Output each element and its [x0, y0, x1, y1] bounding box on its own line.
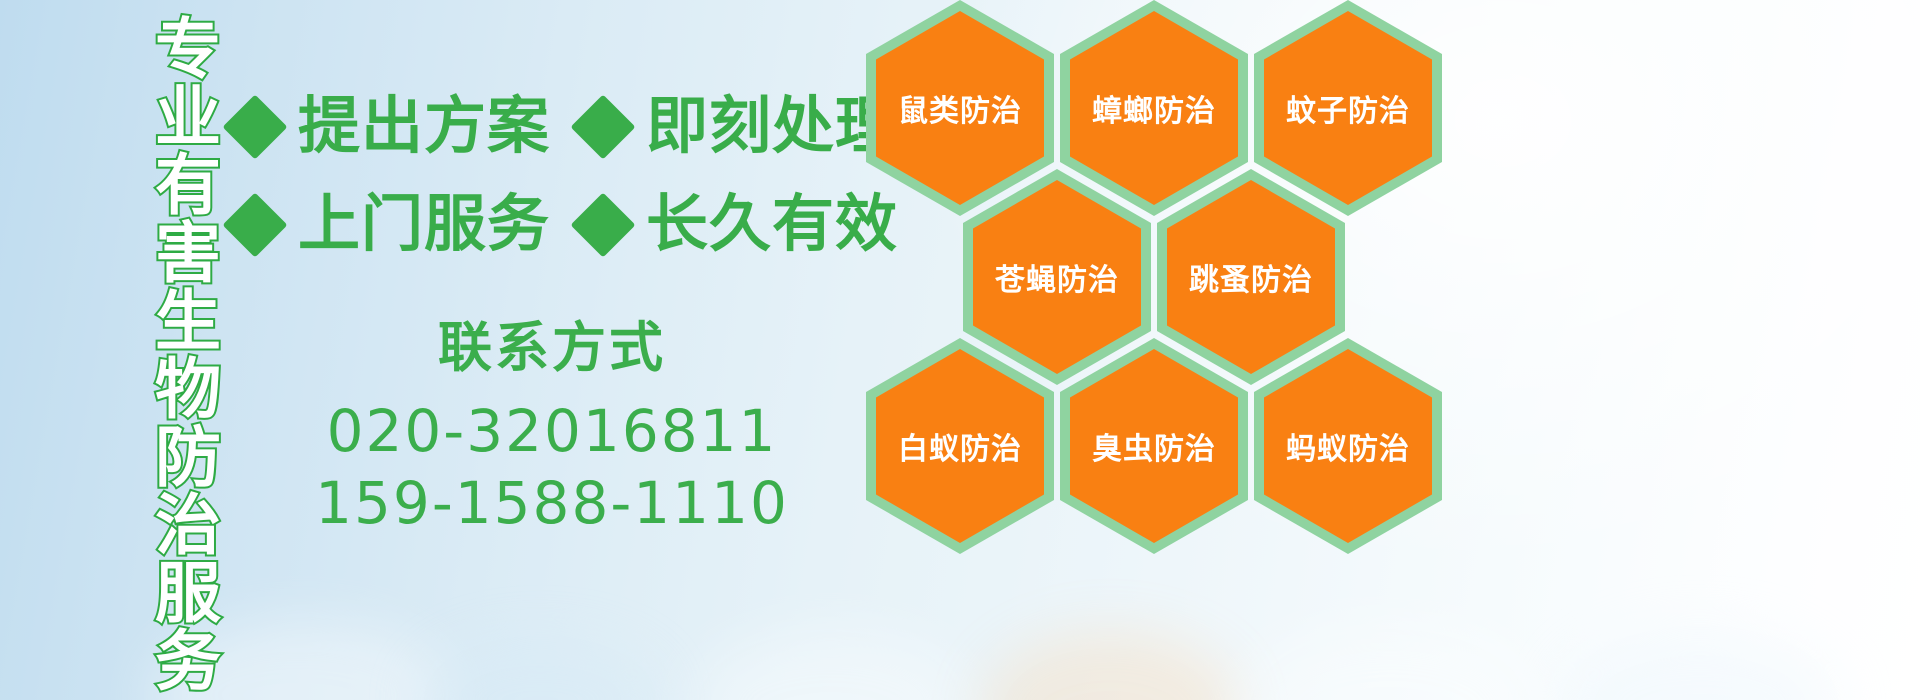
slogan-item-label: 即刻处理	[646, 96, 898, 158]
contact-title: 联系方式	[232, 316, 872, 381]
service-label: 蚊子防治	[1286, 86, 1410, 130]
slogan-line: 提出方案 即刻处理	[232, 78, 872, 176]
service-label: 白蚁防治	[898, 424, 1022, 468]
service-label: 跳蚤防治	[1189, 255, 1313, 299]
slogan-line: 上门服务 长久有效	[232, 176, 872, 274]
hexagon-inner: 蚊子防治	[1264, 11, 1432, 205]
service-hexagon[interactable]: 蟑螂防治	[1060, 0, 1248, 216]
phone-number-landline[interactable]: 020-32016811	[232, 395, 872, 468]
diamond-icon	[222, 94, 287, 159]
service-hexagon[interactable]: 苍蝇防治	[963, 169, 1151, 385]
phone-number-mobile[interactable]: 159-1588-1110	[232, 467, 872, 540]
diamond-icon	[222, 192, 287, 257]
service-hexagon-grid: 鼠类防治 蟑螂防治 蚊子防治 苍蝇防治 跳蚤防治 白蚁防治	[862, 0, 1462, 572]
service-hexagon[interactable]: 鼠类防治	[866, 0, 1054, 216]
service-label: 鼠类防治	[898, 86, 1022, 130]
bokeh-blob	[690, 630, 970, 700]
banner-canvas: 专业有害生物防治服务 提出方案 即刻处理 上门服务 长久有效 联系方式 020-…	[0, 0, 1920, 700]
service-label: 苍蝇防治	[995, 255, 1119, 299]
hexagon-inner: 臭虫防治	[1070, 349, 1238, 543]
hexagon-inner: 白蚁防治	[876, 349, 1044, 543]
contact-block: 联系方式 020-32016811 159-1588-1110	[232, 316, 872, 540]
slogan-list: 提出方案 即刻处理 上门服务 长久有效	[232, 78, 872, 274]
service-hexagon[interactable]: 臭虫防治	[1060, 338, 1248, 554]
vertical-banner-title: 专业有害生物防治服务	[112, 14, 216, 694]
service-hexagon[interactable]: 蚂蚁防治	[1254, 338, 1442, 554]
service-label: 臭虫防治	[1092, 424, 1216, 468]
hexagon-inner: 鼠类防治	[876, 11, 1044, 205]
service-hexagon[interactable]: 蚊子防治	[1254, 0, 1442, 216]
hexagon-inner: 蚂蚁防治	[1264, 349, 1432, 543]
hexagon-inner: 跳蚤防治	[1167, 180, 1335, 374]
slogan-item-label: 长久有效	[646, 194, 898, 256]
service-label: 蟑螂防治	[1092, 86, 1216, 130]
bokeh-blob	[980, 630, 1240, 700]
bokeh-blob	[1560, 630, 1840, 700]
hexagon-inner: 苍蝇防治	[973, 180, 1141, 374]
hexagon-inner: 蟑螂防治	[1070, 11, 1238, 205]
diamond-icon	[570, 94, 635, 159]
slogan-item-label: 提出方案	[298, 96, 550, 158]
service-hexagon[interactable]: 白蚁防治	[866, 338, 1054, 554]
service-hexagon[interactable]: 跳蚤防治	[1157, 169, 1345, 385]
service-label: 蚂蚁防治	[1286, 424, 1410, 468]
diamond-icon	[570, 192, 635, 257]
bokeh-blob	[1240, 625, 1540, 700]
slogan-item-label: 上门服务	[298, 194, 550, 256]
bokeh-blob	[420, 640, 660, 700]
